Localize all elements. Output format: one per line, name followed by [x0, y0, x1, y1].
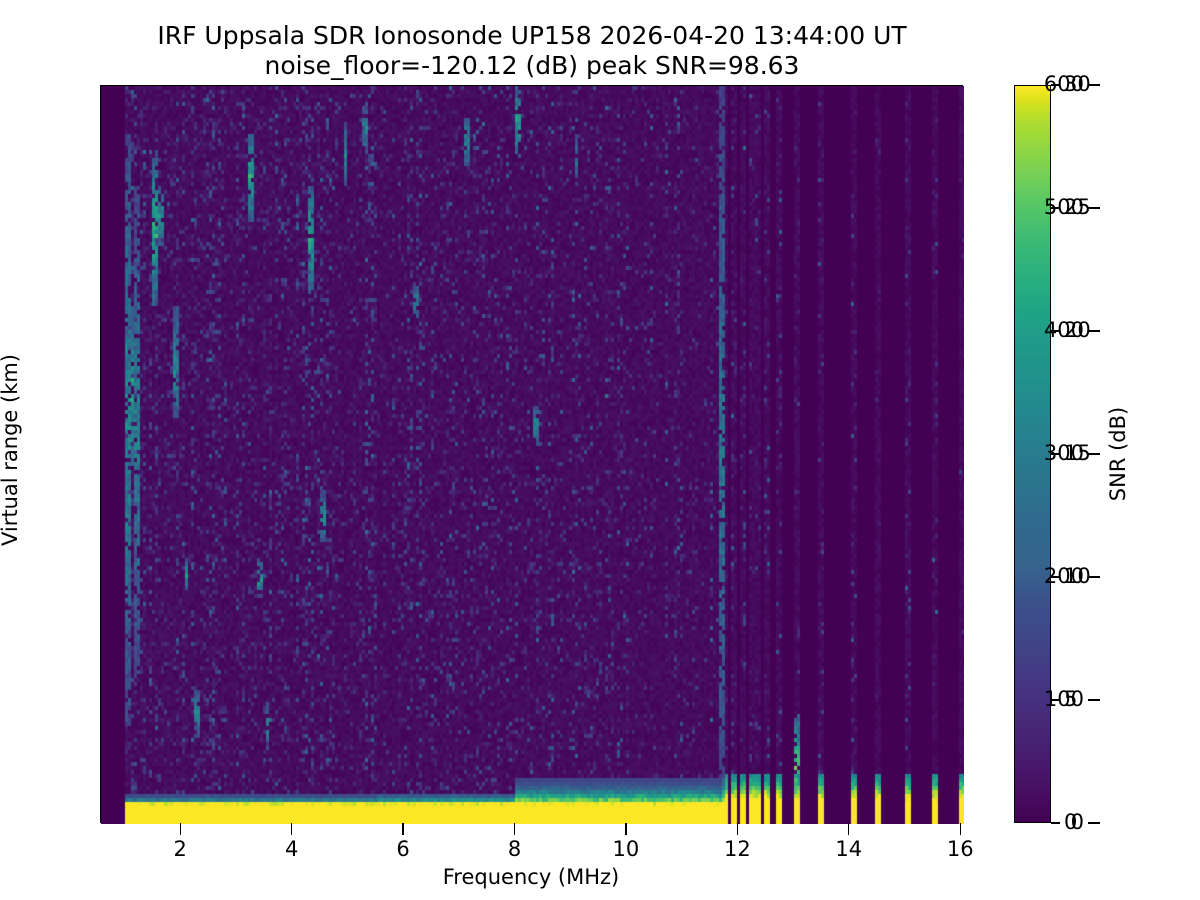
x-tick-mark: [960, 823, 961, 835]
y-axis-label: Virtual range (km): [0, 300, 22, 600]
ionogram-heatmap[interactable]: [101, 86, 964, 824]
x-tick-label: 14: [835, 839, 862, 860]
ionogram-plot-area[interactable]: [100, 85, 963, 823]
colorbar-tick-label: 20: [1064, 320, 1091, 341]
colorbar-tick-label: 30: [1064, 74, 1091, 95]
x-tick-mark: [291, 823, 292, 835]
colorbar-tick-label: 10: [1064, 566, 1091, 587]
colorbar-tick-mark: [1051, 207, 1060, 208]
colorbar-tick-mark: [1051, 84, 1060, 85]
x-tick-mark: [180, 823, 181, 835]
x-tick-label: 2: [174, 839, 187, 860]
ionogram-figure: IRF Uppsala SDR Ionosonde UP158 2026-04-…: [0, 0, 1200, 900]
x-tick-label: 12: [724, 839, 751, 860]
colorbar-tick-mark: [1051, 330, 1060, 331]
colorbar-tick-label: 25: [1064, 197, 1091, 218]
colorbar-tick-mark: [1051, 699, 1060, 700]
colorbar-tick-mark: [1051, 576, 1060, 577]
figure-title-line-1: IRF Uppsala SDR Ionosonde UP158 2026-04-…: [0, 21, 1064, 51]
colorbar-tick-label: 5: [1064, 689, 1077, 710]
x-tick-label: 8: [508, 839, 521, 860]
x-tick-mark: [625, 823, 626, 835]
figure-subtitle-line-2: noise_floor=-120.12 (dB) peak SNR=98.63: [0, 51, 1064, 81]
x-tick-mark: [737, 823, 738, 835]
x-tick-label: 4: [285, 839, 298, 860]
x-tick-label: 16: [947, 839, 974, 860]
x-tick-mark: [514, 823, 515, 835]
colorbar-tick-mark: [1051, 822, 1060, 823]
colorbar-tick-label: 15: [1064, 443, 1091, 464]
y-tick-mark: [1088, 699, 1100, 700]
colorbar-tick-mark: [1051, 453, 1060, 454]
x-tick-label: 6: [396, 839, 409, 860]
x-tick-mark: [402, 823, 403, 835]
x-tick-mark: [848, 823, 849, 835]
x-axis-label: Frequency (MHz): [443, 865, 619, 889]
y-tick-mark: [1088, 822, 1100, 823]
colorbar-label: SNR (dB): [1106, 354, 1130, 554]
x-tick-label: 10: [613, 839, 640, 860]
colorbar-tick-label: 0: [1064, 812, 1077, 833]
